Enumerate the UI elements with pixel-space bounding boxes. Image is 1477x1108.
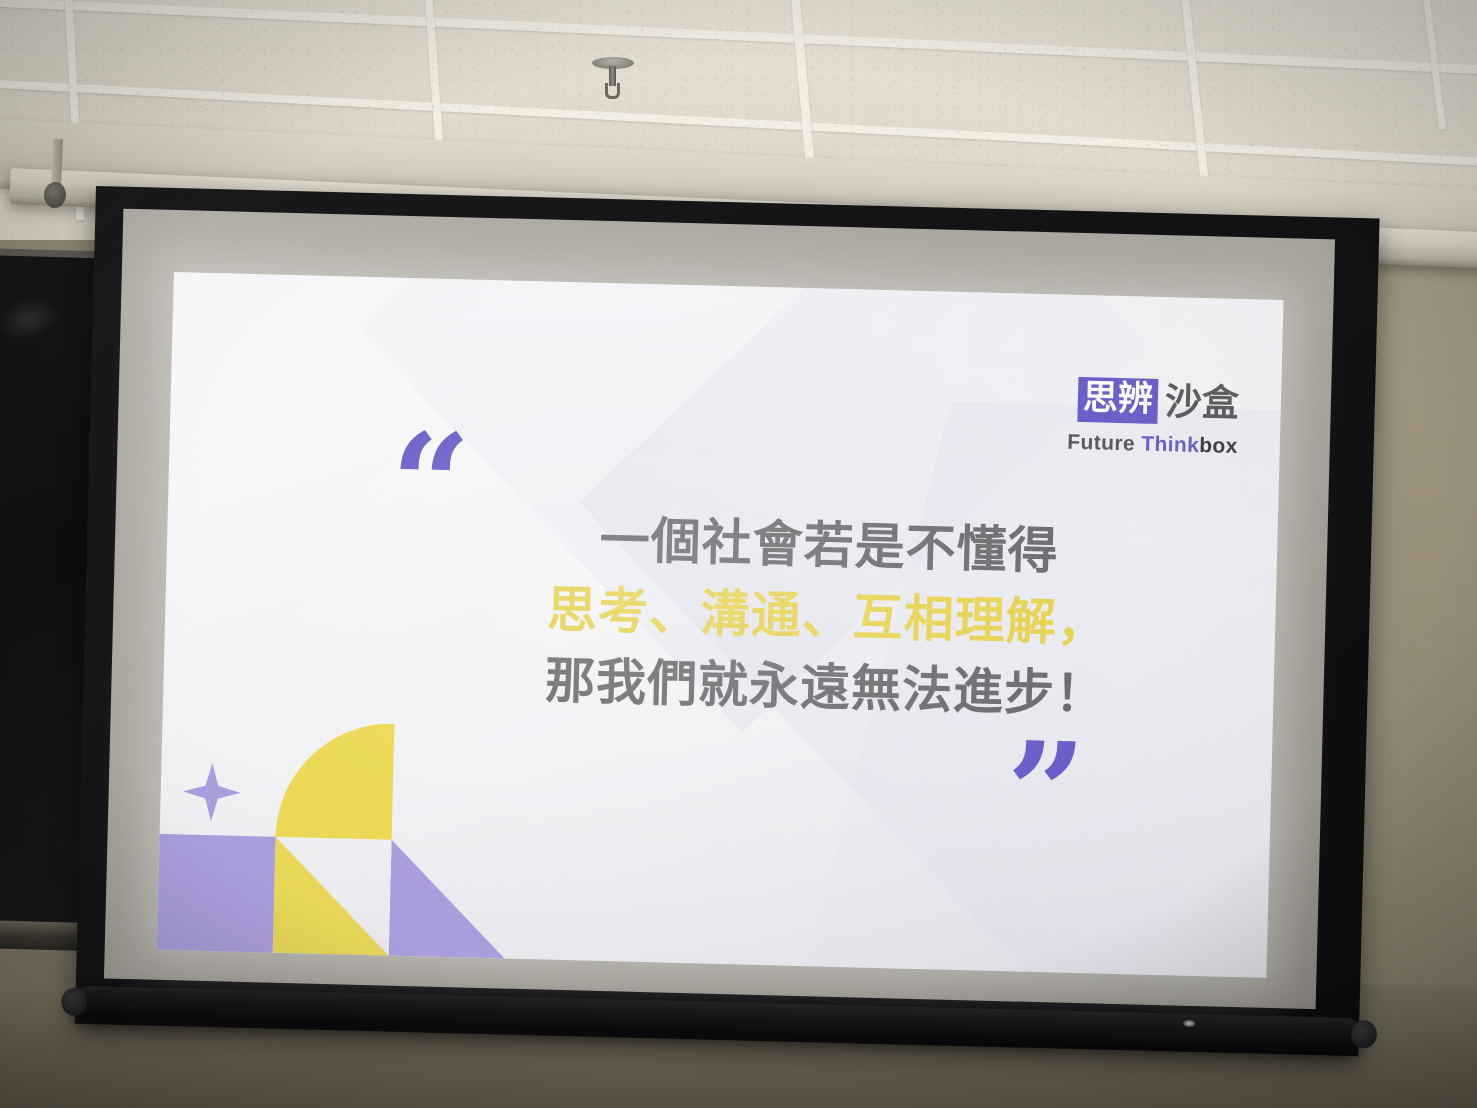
sprinkler-deflector xyxy=(605,83,620,99)
logo-word: 沙盒 xyxy=(1164,383,1239,422)
screen-weight-bar-highlight xyxy=(1183,1020,1195,1027)
projected-slide: 思辨 沙盒 Future Thinkbox “ ” 一個社會若是不懂得 思考、溝… xyxy=(157,272,1284,978)
fire-sprinkler-icon xyxy=(592,57,634,101)
ceiling-grid-rail xyxy=(1180,0,1209,180)
decoration-quarter-circle-yellow xyxy=(276,721,395,840)
sparkle-star-icon xyxy=(182,762,241,821)
logo-subtitle-think: Think xyxy=(1141,433,1200,457)
brand-logo: 思辨 沙盒 Future Thinkbox xyxy=(1067,377,1239,459)
ceiling-grid-rail xyxy=(1421,0,1446,130)
slide-decoration xyxy=(157,730,472,958)
decoration-triangle-yellow xyxy=(273,837,392,956)
decoration-square-purple xyxy=(157,834,276,953)
ceiling-grid-rail xyxy=(0,0,1477,76)
chalk-smudge xyxy=(0,291,64,345)
classroom-scene: 思辨 沙盒 Future Thinkbox “ ” 一個社會若是不懂得 思考、溝… xyxy=(0,0,1477,1108)
screen-mount-bracket xyxy=(51,139,63,187)
logo-subtitle: Future Thinkbox xyxy=(1067,431,1238,459)
logo-badge: 思辨 xyxy=(1077,377,1158,424)
decoration-triangle-purple xyxy=(389,840,508,959)
ceiling-grid-rail xyxy=(424,0,445,160)
projection-screen: 思辨 沙盒 Future Thinkbox “ ” 一個社會若是不懂得 思考、溝… xyxy=(75,186,1380,1056)
logo-subtitle-box: box xyxy=(1199,434,1238,458)
logo-wordmark-row: 思辨 沙盒 xyxy=(1068,377,1240,426)
logo-subtitle-future: Future xyxy=(1067,431,1142,456)
quote-text-block: 一個社會若是不懂得 思考、溝通、互相理解， 那我們就永遠無法進步！ xyxy=(445,501,1210,733)
closing-quote-mark: ” xyxy=(1005,738,1087,848)
